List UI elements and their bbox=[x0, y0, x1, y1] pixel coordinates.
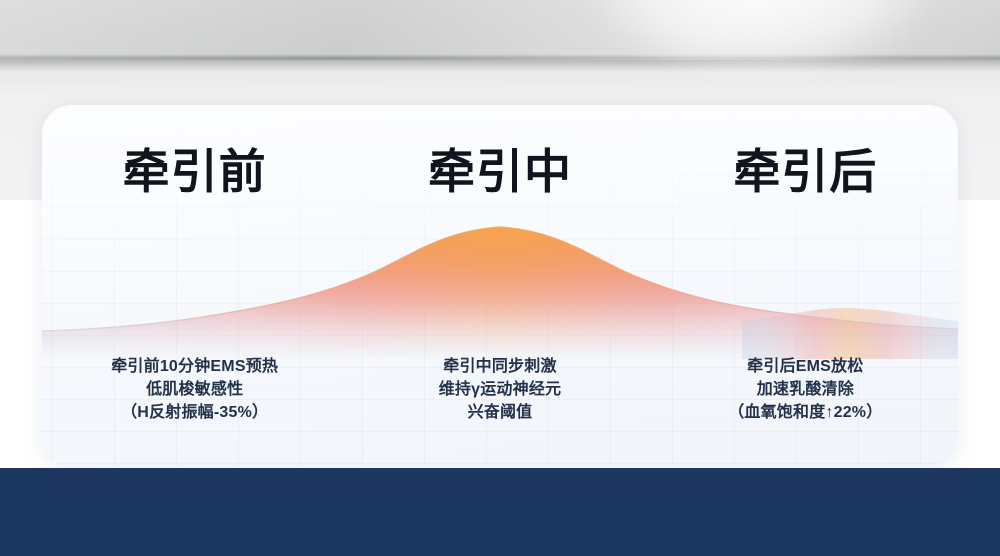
stage-column-during: 牵引中 bbox=[347, 143, 652, 201]
heading-during: 牵引中 bbox=[347, 143, 652, 201]
caption-column-before: 牵引前10分钟EMS预热 低肌梭敏感性 （H反射振幅-35%） bbox=[42, 355, 347, 424]
footer-band bbox=[0, 468, 1000, 556]
caption-after: 牵引后EMS放松 加速乳酸清除 （血氧饱和度↑22%） bbox=[653, 355, 958, 424]
caption-before: 牵引前10分钟EMS预热 低肌梭敏感性 （H反射振幅-35%） bbox=[42, 355, 347, 424]
stimulation-wave-chart bbox=[42, 209, 958, 359]
caption-column-during: 牵引中同步刺激 维持γ运动神经元 兴奋阈值 bbox=[347, 355, 652, 424]
infographic-stage: 牵引前 牵引中 牵引后 牵引前10分钟EMS预热 低肌梭敏感性 （H反射振幅-3… bbox=[0, 0, 1000, 556]
stage-column-after: 牵引后 bbox=[653, 143, 958, 201]
stage-headings-row: 牵引前 牵引中 牵引后 bbox=[42, 143, 958, 201]
stage-column-before: 牵引前 bbox=[42, 143, 347, 201]
caption-column-after: 牵引后EMS放松 加速乳酸清除 （血氧饱和度↑22%） bbox=[653, 355, 958, 424]
stage-captions-row: 牵引前10分钟EMS预热 低肌梭敏感性 （H反射振幅-35%） 牵引中同步刺激 … bbox=[42, 355, 958, 424]
heading-before: 牵引前 bbox=[42, 143, 347, 201]
heading-after: 牵引后 bbox=[653, 143, 958, 201]
caption-during: 牵引中同步刺激 维持γ运动神经元 兴奋阈值 bbox=[347, 355, 652, 424]
content-card: 牵引前 牵引中 牵引后 牵引前10分钟EMS预热 低肌梭敏感性 （H反射振幅-3… bbox=[42, 105, 958, 467]
